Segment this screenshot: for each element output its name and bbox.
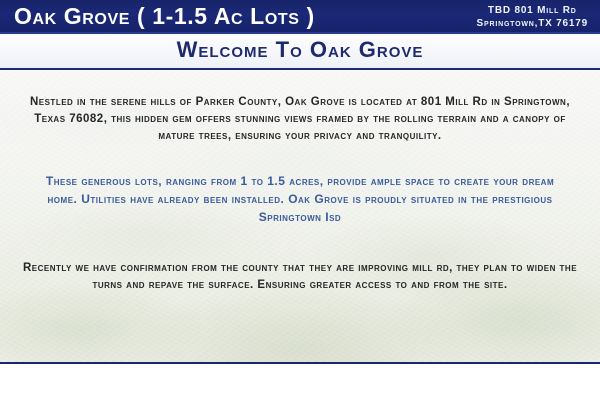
header-bar: Oak Grove ( 1-1.5 Ac Lots ) TBD 801 Mill…: [0, 0, 600, 34]
address-line-street: TBD 801 Mill Rd: [477, 4, 588, 17]
welcome-heading: Welcome To Oak Grove: [0, 37, 600, 63]
welcome-band: Welcome To Oak Grove: [0, 36, 600, 70]
paragraph-lot-details: These generous lots, ranging from 1 to 1…: [34, 172, 566, 226]
body-content: Nestled in the serene hills of Parker Co…: [0, 72, 600, 294]
property-flyer: Oak Grove ( 1-1.5 Ac Lots ) TBD 801 Mill…: [0, 0, 600, 364]
page-whitespace-footer: [0, 364, 600, 400]
paragraph-location-description: Nestled in the serene hills of Parker Co…: [26, 94, 574, 145]
paragraph-road-improvements: Recently we have confirmation from the c…: [20, 260, 580, 294]
address-line-city-state-zip: Springtown,TX 76179: [477, 17, 588, 30]
property-address: TBD 801 Mill Rd Springtown,TX 76179: [477, 4, 588, 30]
property-title: Oak Grove ( 1-1.5 Ac Lots ): [14, 3, 315, 30]
